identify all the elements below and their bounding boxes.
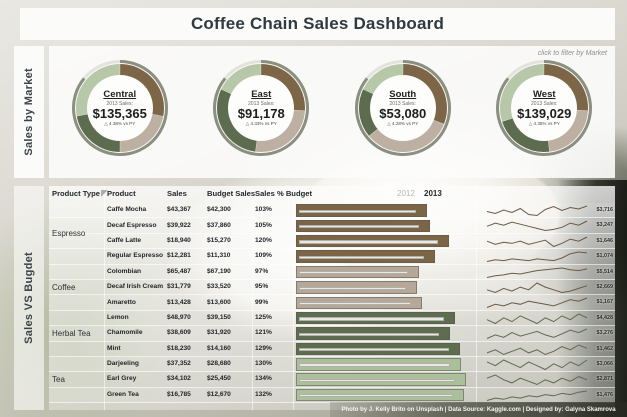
table-row[interactable]: Darjeeling$37,352$28,680130%$3,066 <box>49 357 615 372</box>
product-type-group-espresso[interactable]: Espresso <box>52 229 85 238</box>
sparkline-cell: $1,167 <box>479 295 615 310</box>
bar-cell <box>296 297 476 310</box>
market-sales-value: $91,178 <box>238 107 285 121</box>
cell-budget-sales: $15,270 <box>207 237 231 244</box>
cell-sales: $43,367 <box>167 206 191 213</box>
sparkline <box>479 218 615 233</box>
bar-cell <box>296 373 476 386</box>
market-name: Central <box>103 89 136 100</box>
cell-sales: $37,352 <box>167 360 191 367</box>
column-header-year-2013: 2013 <box>424 189 442 198</box>
bar-cell <box>296 235 476 248</box>
table-row[interactable]: Mint$18,230$14,160129%$1,462 <box>49 342 615 357</box>
bar-reference-marker <box>299 256 424 259</box>
table-row[interactable]: Regular Espresso$12,281$11,310109%$1,074 <box>49 249 615 264</box>
title-band: Coffee Chain Sales Dashboard <box>20 8 615 40</box>
sparkline-value: $1,462 <box>597 346 614 352</box>
table-row[interactable]: Chamomile$38,609$31,920121%$3,276 <box>49 326 615 341</box>
sparkline <box>479 234 615 249</box>
market-donut-central[interactable]: Central2013 Sales:$135,365△ 4.38% vs PY <box>68 56 172 160</box>
bar-cell <box>296 266 476 279</box>
sales-pct-bar[interactable] <box>296 297 422 310</box>
cell-product: Regular Espresso <box>107 252 163 259</box>
bar-reference-marker <box>299 363 450 366</box>
cell-budget-sales: $25,450 <box>207 375 231 382</box>
sales-pct-bar[interactable] <box>296 327 450 340</box>
sparkline-cell: $5,514 <box>479 265 615 280</box>
table-row[interactable]: Lemon$48,970$39,150125%$4,428 <box>49 311 615 326</box>
sparkline-cell: $1,074 <box>479 249 615 264</box>
sales-pct-bar[interactable] <box>296 281 417 294</box>
cell-budget-sales: $33,520 <box>207 283 231 290</box>
bar-cell <box>296 250 476 263</box>
market-delta: △ 4.38% vs PY <box>104 121 135 127</box>
sales-pct-bar[interactable] <box>296 250 435 263</box>
sparkline-cell: $3,247 <box>479 218 615 233</box>
cell-budget-sales: $37,860 <box>207 222 231 229</box>
sales-pct-bar[interactable] <box>296 312 455 325</box>
market-name: East <box>251 89 271 100</box>
sparkline <box>479 203 615 218</box>
sparkline <box>479 372 615 387</box>
table-row[interactable]: Green Tea$16,785$12,670132%$1,476 <box>49 388 615 403</box>
section-label-market-text: Sales by Market <box>23 68 35 156</box>
cell-sales: $18,940 <box>167 237 191 244</box>
cell-sales: $16,785 <box>167 391 191 398</box>
sparkline-cell: $1,462 <box>479 342 615 357</box>
sparkline-value: $3,716 <box>597 207 614 213</box>
sparkline-cell: $3,066 <box>479 357 615 372</box>
sparkline-value: $2,871 <box>597 376 614 382</box>
bar-cell <box>296 358 476 371</box>
sparkline-value: $3,066 <box>597 361 614 367</box>
cell-budget-sales: $14,160 <box>207 345 231 352</box>
bar-cell <box>296 281 476 294</box>
sales-pct-bar[interactable] <box>296 204 427 217</box>
cell-sales: $31,779 <box>167 283 191 290</box>
product-type-group-herbal-tea[interactable]: Herbal Tea <box>52 329 91 338</box>
filter-hint: click to filter by Market <box>538 50 607 57</box>
sparkline <box>479 311 615 326</box>
bar-cell <box>296 343 476 356</box>
section-label-sales-by-market: Sales by Market <box>14 46 44 178</box>
sparkline-value: $2,669 <box>597 284 614 290</box>
cell-budget-sales: $39,150 <box>207 314 231 321</box>
cell-sales: $34,102 <box>167 375 191 382</box>
dashboard-root: Coffee Chain Sales Dashboard Sales by Ma… <box>0 0 627 417</box>
cell-sales: $38,609 <box>167 329 191 336</box>
bar-cell <box>296 312 476 325</box>
bar-reference-marker <box>299 225 419 228</box>
sparkline <box>479 265 615 280</box>
cell-product: Decaf Irish Cream <box>107 283 163 290</box>
sales-pct-bar[interactable] <box>296 235 449 248</box>
cell-budget-sales: $42,300 <box>207 206 231 213</box>
bar-reference-marker <box>299 379 455 382</box>
sales-by-market-panel: click to filter by Market Central2013 Sa… <box>49 46 615 178</box>
sales-pct-bar[interactable] <box>296 343 460 356</box>
cell-budget-sales: $31,920 <box>207 329 231 336</box>
sparkline-value: $5,514 <box>597 269 614 275</box>
table-row[interactable]: Decaf Irish Cream$31,779$33,52095%$2,669 <box>49 280 615 295</box>
market-delta: △ 4.35% vs PY <box>529 121 560 127</box>
product-type-group-tea[interactable]: Tea <box>52 375 65 384</box>
cell-sales: $13,428 <box>167 299 191 306</box>
sparkline-cell: $3,276 <box>479 326 615 341</box>
cell-sales-pct-budget: 103% <box>255 206 272 213</box>
cell-sales-pct-budget: 99% <box>255 299 268 306</box>
donut-center-label: West2013 Sales:$139,029△ 4.35% vs PY <box>511 75 577 141</box>
cell-product: Caffe Latte <box>107 237 141 244</box>
cell-sales: $48,970 <box>167 314 191 321</box>
cell-budget-sales: $12,670 <box>207 391 231 398</box>
sparkline <box>479 342 615 357</box>
column-header-product-type-label: Product Type <box>52 189 100 198</box>
cell-sales-pct-budget: 109% <box>255 252 272 259</box>
cell-budget-sales: $67,190 <box>207 268 231 275</box>
cell-sales: $18,230 <box>167 345 191 352</box>
table-row[interactable]: Earl Grey$34,102$25,450134%$2,871 <box>49 372 615 387</box>
cell-product: Green Tea <box>107 391 139 398</box>
sparkline-value: $1,476 <box>597 392 614 398</box>
cell-sales-pct-budget: 129% <box>255 345 272 352</box>
sparkline-cell: $4,428 <box>479 311 615 326</box>
page-title: Coffee Chain Sales Dashboard <box>191 14 444 34</box>
sparkline-cell: $2,871 <box>479 372 615 387</box>
table-header-row: Product Type Product Sales Budget Sales … <box>49 186 615 203</box>
cell-budget-sales: $11,310 <box>207 252 230 259</box>
bar-cell <box>296 389 476 402</box>
bar-reference-marker <box>299 317 444 320</box>
market-sales-value: $139,029 <box>517 107 571 121</box>
footer-credit-text: Photo by J. Kelly Brito on Unsplash | Da… <box>341 407 615 413</box>
sparkline <box>479 326 615 341</box>
sparkline <box>479 388 615 403</box>
sales-pct-bar[interactable] <box>296 220 430 233</box>
bar-cell <box>296 327 476 340</box>
column-header-sales[interactable]: Sales <box>167 189 187 198</box>
table-row[interactable]: Caffe Mocha$43,367$42,300103%$3,716 <box>49 203 615 218</box>
bar-reference-marker <box>299 271 408 274</box>
cell-sales-pct-budget: 97% <box>255 268 268 275</box>
cell-product: Chamomile <box>107 329 143 336</box>
bar-reference-marker <box>299 210 416 213</box>
sparkline-value: $3,247 <box>597 222 614 228</box>
cell-product: Colombian <box>107 268 141 275</box>
sparkline-value: $1,646 <box>597 238 614 244</box>
cell-product: Decaf Espresso <box>107 222 156 229</box>
bar-reference-marker <box>299 287 406 290</box>
bar-cell <box>296 220 476 233</box>
sales-pct-bar[interactable] <box>296 389 464 402</box>
sales-pct-bar[interactable] <box>296 266 419 279</box>
cell-product: Darjeeling <box>107 360 139 367</box>
cell-product: Earl Grey <box>107 375 136 382</box>
sparkline-cell: $2,669 <box>479 280 615 295</box>
cell-budget-sales: $28,680 <box>207 360 231 367</box>
market-donut-west[interactable]: West2013 Sales:$139,029△ 4.35% vs PY <box>492 56 596 160</box>
donut-center-label: East2013 Sales:$91,178△ 4.33% vs PY <box>228 75 294 141</box>
table-row[interactable]: Amaretto$13,428$13,60099%$1,167 <box>49 295 615 310</box>
market-name: West <box>533 89 556 100</box>
cell-budget-sales: $13,600 <box>207 299 231 306</box>
sparkline <box>479 280 615 295</box>
cell-product: Caffe Mocha <box>107 206 146 213</box>
bar-reference-marker <box>299 333 439 336</box>
sparkline-cell: $3,716 <box>479 203 615 218</box>
bar-reference-marker <box>299 348 449 351</box>
cell-sales-pct-budget: 120% <box>255 237 272 244</box>
market-donut-east[interactable]: East2013 Sales:$91,178△ 4.33% vs PY <box>209 56 313 160</box>
sparkline <box>479 357 615 372</box>
market-donut-row: Central2013 Sales:$135,365△ 4.38% vs PYE… <box>49 56 615 176</box>
bar-reference-marker <box>299 240 438 243</box>
market-sales-value: $135,365 <box>93 107 147 121</box>
footer-credit-bar: Photo by J. Kelly Brito on Unsplash | Da… <box>330 402 627 417</box>
market-delta: △ 4.33% vs PY <box>246 121 277 127</box>
market-donut-south[interactable]: South2013 Sales:$53,080△ 4.28% vs PY <box>351 56 455 160</box>
product-type-group-coffee[interactable]: Coffee <box>52 283 75 292</box>
sparkline <box>479 249 615 264</box>
sparkline-value: $3,276 <box>597 330 614 336</box>
cell-sales-pct-budget: 105% <box>255 222 272 229</box>
bar-reference-marker <box>299 394 453 397</box>
market-name: South <box>389 89 416 100</box>
cell-product: Amaretto <box>107 299 136 306</box>
cell-sales-pct-budget: 125% <box>255 314 272 321</box>
table-row[interactable]: Decaf Espresso$39,922$37,860105%$3,247 <box>49 218 615 233</box>
table-body: Caffe Mocha$43,367$42,300103%$3,716Decaf… <box>49 203 615 403</box>
cell-sales-pct-budget: 130% <box>255 360 272 367</box>
donut-center-label: South2013 Sales:$53,080△ 4.28% vs PY <box>370 75 436 141</box>
table-row[interactable]: Colombian$65,487$67,19097%$5,514 <box>49 265 615 280</box>
sparkline-value: $4,428 <box>597 315 614 321</box>
sparkline-value: $1,074 <box>597 253 614 259</box>
cell-product: Mint <box>107 345 121 352</box>
table-row[interactable]: Caffe Latte$18,940$15,270120%$1,646 <box>49 234 615 249</box>
market-sales-value: $53,080 <box>379 107 426 121</box>
section-label-sales-vs-budget: Sales VS Bugdet <box>14 186 44 410</box>
donut-center-label: Central2013 Sales:$135,365△ 4.38% vs PY <box>87 75 153 141</box>
cell-sales: $12,281 <box>167 252 191 259</box>
cell-sales: $65,487 <box>167 268 191 275</box>
column-header-product[interactable]: Product <box>107 189 136 198</box>
bar-reference-marker <box>299 302 411 305</box>
sales-pct-bar[interactable] <box>296 373 466 386</box>
cell-product: Lemon <box>107 314 129 321</box>
column-header-product-type[interactable]: Product Type <box>52 189 108 198</box>
market-delta: △ 4.28% vs PY <box>387 121 418 127</box>
sales-vs-budget-panel: Product Type Product Sales Budget Sales … <box>49 186 615 410</box>
sparkline-cell: $1,646 <box>479 234 615 249</box>
sparkline-value: $1,167 <box>597 299 614 305</box>
column-header-budget-sales[interactable]: Budget Sales <box>207 189 255 198</box>
sparkline-cell: $1,476 <box>479 388 615 403</box>
column-header-year-2012: 2012 <box>397 189 415 198</box>
cell-sales-pct-budget: 132% <box>255 391 272 398</box>
cell-sales-pct-budget: 95% <box>255 283 268 290</box>
cell-sales-pct-budget: 121% <box>255 329 272 336</box>
section-label-budget-text: Sales VS Bugdet <box>23 252 35 344</box>
bar-cell <box>296 204 476 217</box>
cell-sales-pct-budget: 134% <box>255 375 272 382</box>
cell-sales: $39,922 <box>167 222 191 229</box>
sparkline <box>479 295 615 310</box>
column-header-sales-pct[interactable]: Sales % Budget <box>255 189 312 198</box>
sales-pct-bar[interactable] <box>296 358 461 371</box>
